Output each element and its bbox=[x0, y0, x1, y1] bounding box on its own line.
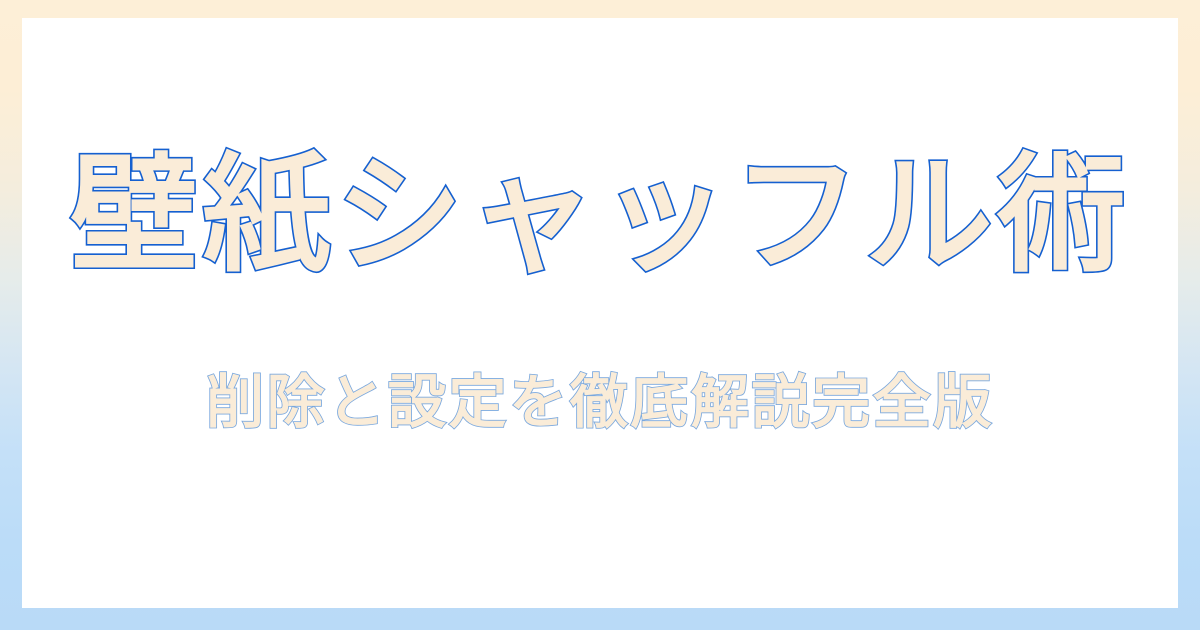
poster-canvas: 壁紙シャッフル術 削除と設定を徹底解説完全版 bbox=[0, 0, 1200, 630]
text-block: 壁紙シャッフル術 削除と設定を徹底解説完全版 bbox=[22, 147, 1178, 436]
page-title: 壁紙シャッフル術 bbox=[22, 147, 1178, 285]
content-card: 壁紙シャッフル術 削除と設定を徹底解説完全版 bbox=[22, 18, 1178, 608]
page-subtitle: 削除と設定を徹底解説完全版 bbox=[22, 369, 1178, 436]
